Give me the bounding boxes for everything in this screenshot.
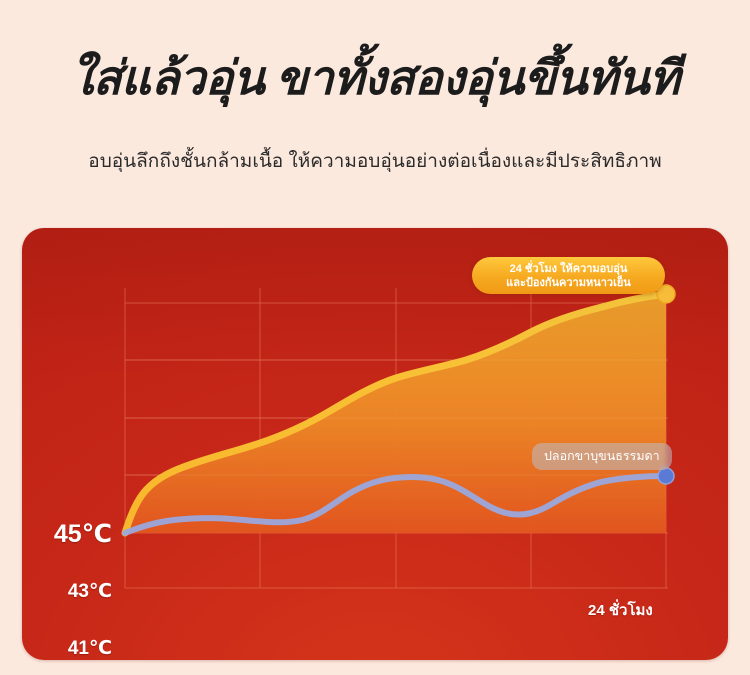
warm-series-annotation-badge: 24 ชั่วโมง ให้ความอบอุ่น และป้องกันความห… — [472, 257, 665, 294]
y-tick-45: 45℃ — [22, 519, 112, 549]
ordinary-series-end-marker — [658, 468, 674, 484]
warm-series-annotation-line2: และป้องกันความหนาวเย็น — [506, 276, 631, 290]
page-headline: ใส่แล้วอุ่น ขาทั้งสองอุ่นขึ้นทันที — [0, 50, 750, 108]
ordinary-series-annotation-badge: ปลอกขาบุขนธรรมดา — [532, 443, 672, 470]
y-tick-43: 43℃ — [22, 580, 112, 603]
y-tick-41: 41℃ — [22, 637, 112, 660]
page-subheadline: อบอุ่นลึกถึงชั้นกล้ามเนื้อ ให้ความอบอุ่น… — [0, 148, 750, 176]
x-axis-caption: 24 ชั่วโมง — [588, 598, 653, 622]
warm-series-annotation-line1: 24 ชั่วโมง ให้ความอบอุ่น — [510, 262, 628, 276]
